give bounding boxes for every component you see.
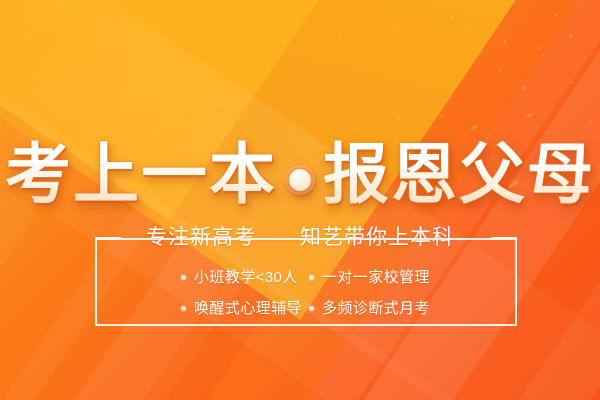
- list-item: 一对一家校管理: [309, 269, 437, 287]
- headline-right-text: 报恩父母: [323, 137, 595, 211]
- bullet-dot-icon: [309, 306, 314, 311]
- list-item: 多频诊断式月考: [309, 300, 437, 318]
- promo-banner: 考上一本 报恩父母 专注新高考——知艺带你上本科 小班教学<30人 一对一家校管…: [0, 0, 600, 400]
- feature-label: 小班教学<30人: [194, 269, 298, 287]
- feature-label: 一对一家校管理: [322, 269, 430, 287]
- dot-separator-icon: [277, 150, 323, 210]
- banner-subtitle: 专注新高考——知艺带你上本科: [0, 227, 600, 249]
- headline-left-text: 考上一本: [5, 137, 277, 211]
- banner-headline: 考上一本 报恩父母: [0, 137, 600, 211]
- list-item: 小班教学<30人: [181, 269, 309, 287]
- bullet-dot-icon: [181, 275, 186, 280]
- feature-label: 唤醒式心理辅导: [194, 300, 302, 318]
- feature-list: 小班教学<30人 一对一家校管理 唤醒式心理辅导 多频诊断式月考: [95, 262, 517, 324]
- feature-label: 多频诊断式月考: [322, 300, 430, 318]
- bullet-dot-icon: [181, 306, 186, 311]
- bullet-dot-icon: [309, 275, 314, 280]
- list-item: 唤醒式心理辅导: [181, 300, 309, 318]
